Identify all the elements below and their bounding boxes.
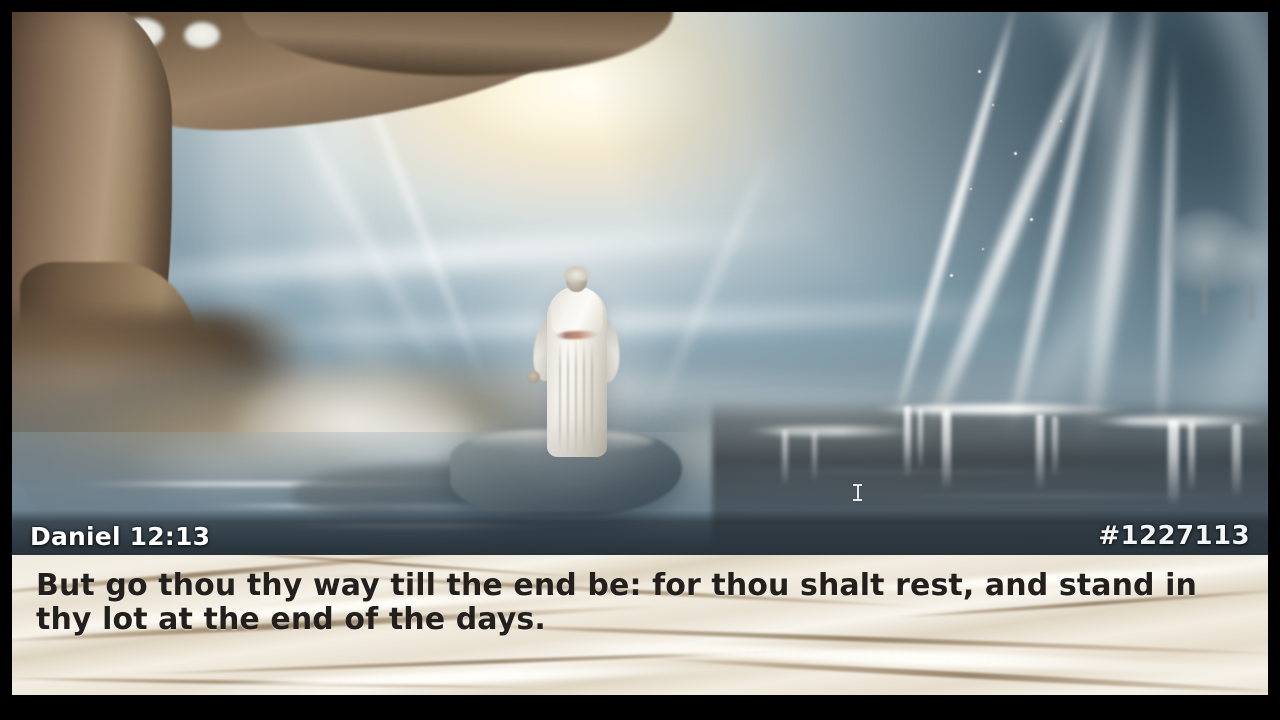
figure-hair bbox=[564, 266, 589, 281]
cliff-edge-highlight bbox=[872, 404, 1132, 414]
robe-fold bbox=[559, 341, 561, 451]
sparkle-mote bbox=[950, 274, 953, 277]
sparkle-mote bbox=[982, 248, 984, 250]
waterfall-stream bbox=[1168, 420, 1179, 506]
figure-hand bbox=[527, 371, 540, 383]
marble-vein bbox=[12, 676, 552, 690]
sparkle-mote bbox=[970, 188, 972, 190]
robe-fold bbox=[567, 339, 569, 455]
sparkle-mote bbox=[992, 104, 994, 106]
robe-fold bbox=[583, 339, 585, 453]
sparkle-mote bbox=[1030, 218, 1033, 221]
screenshot-stage: Daniel 12:13 #1227113 But go thou thy wa… bbox=[0, 0, 1280, 720]
marble-vein bbox=[652, 656, 1268, 695]
robe-fold bbox=[591, 343, 593, 447]
waterfall-stream bbox=[1188, 422, 1195, 492]
waterfall-stream bbox=[942, 410, 951, 490]
distant-tree-trunk bbox=[1250, 284, 1254, 318]
waterfall-stream bbox=[812, 432, 817, 482]
robe-fold bbox=[575, 337, 577, 455]
cliff-edge-highlight bbox=[1092, 416, 1268, 426]
waterfall-stream bbox=[782, 430, 788, 486]
distant-tree-trunk bbox=[1202, 274, 1207, 314]
waterfall-stream bbox=[904, 406, 911, 478]
waterfall-stream bbox=[1232, 424, 1241, 498]
waterfall-stream bbox=[918, 408, 923, 470]
marble-highlight bbox=[532, 638, 1268, 679]
tree-canopy-gap bbox=[184, 22, 220, 48]
robed-figure bbox=[527, 267, 623, 457]
verse-text: But go thou thy way till the end be: for… bbox=[36, 569, 1236, 636]
marble-vein bbox=[132, 646, 892, 677]
water-ripple bbox=[272, 524, 572, 528]
sparkle-mote bbox=[1060, 120, 1062, 122]
sparkle-mote bbox=[978, 70, 981, 73]
figure-shoulders bbox=[551, 287, 603, 335]
verse-artwork-image[interactable]: Daniel 12:13 #1227113 But go thou thy wa… bbox=[12, 12, 1268, 695]
verse-caption-panel: But go thou thy way till the end be: for… bbox=[12, 555, 1268, 695]
waterfall-stream bbox=[1052, 416, 1058, 478]
sparkle-mote bbox=[1014, 152, 1017, 155]
waterfall-stream bbox=[1036, 414, 1044, 490]
cliff-edge-highlight bbox=[748, 426, 918, 436]
marble-highlight bbox=[172, 660, 792, 693]
